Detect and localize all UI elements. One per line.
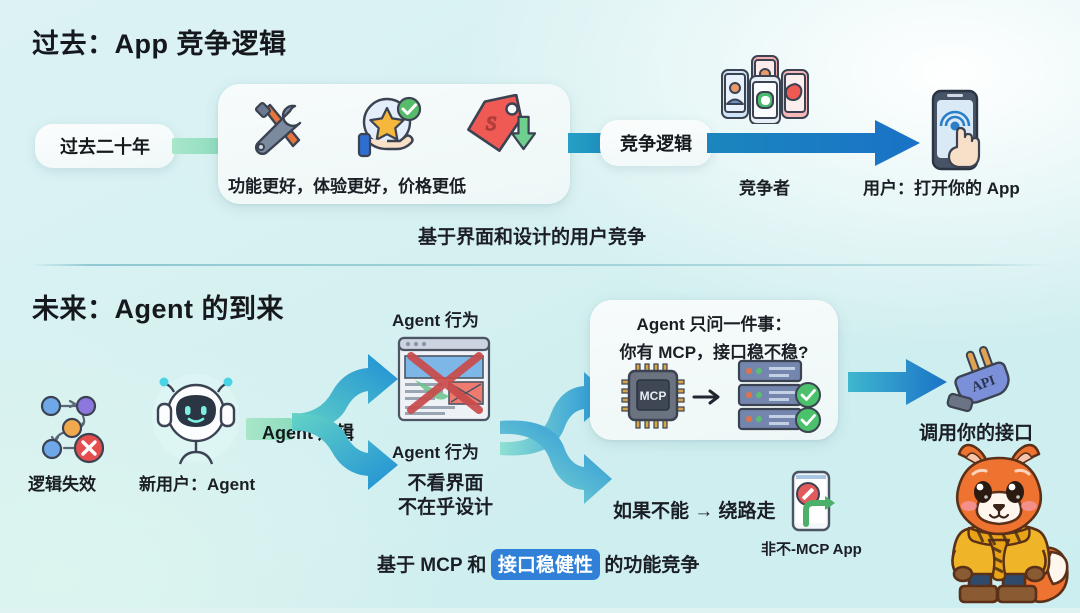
top-section-title: 过去：App 竞争逻辑	[32, 22, 287, 61]
era-pill-label: 过去二十年	[60, 133, 150, 159]
broken-flowchart-icon	[34, 392, 114, 466]
status-check-icon	[796, 383, 820, 432]
new-user-agent-label: 新用户：Agent	[139, 470, 255, 495]
tools-icon	[243, 96, 315, 160]
connector-era-to-card	[172, 138, 222, 154]
competition-logic-pill: 竞争逻辑	[600, 120, 712, 166]
robot-icon	[150, 370, 242, 466]
user-open-app-label: 用户：打开你的 App	[863, 174, 1020, 199]
section-divider	[30, 264, 1055, 266]
fox-mascot-icon	[925, 440, 1077, 608]
agent-branch-arrows	[292, 330, 412, 530]
competitors-label: 竞争者	[739, 174, 790, 199]
phone-tap-icon	[920, 88, 992, 174]
server-rack-icon	[735, 358, 827, 436]
cpu-chip-icon: MCP	[620, 362, 686, 430]
mcp-card-line1: Agent 只问一件事：	[590, 310, 838, 335]
svg-text:S: S	[486, 113, 496, 135]
bottom-section-title: 未来：Agent 的到来	[32, 287, 284, 326]
footer-highlight: 接口稳健性	[491, 549, 600, 580]
arrow-right-icon	[692, 386, 726, 408]
footer-before: 基于 MCP 和	[377, 555, 486, 576]
value-card-caption: 功能更好，体验更好，价格更低	[228, 172, 466, 197]
competition-logic-label: 竞争逻辑	[620, 130, 692, 156]
outcome-arrow	[848, 358, 948, 406]
hand-star-icon	[353, 94, 425, 160]
price-tag-down-icon: S	[460, 94, 540, 160]
era-pill: 过去二十年	[35, 124, 175, 168]
bottom-footer-caption: 基于 MCP 和 接口稳健性 的功能竞争	[377, 549, 699, 580]
crossed-out-webpage-icon	[397, 336, 491, 422]
fallback-text: 如果不能 → 绕路走	[613, 496, 776, 523]
competition-flow-arrow	[707, 118, 922, 168]
branch-lower-line1: 不看界面	[408, 472, 484, 496]
multiple-phones-icon	[716, 52, 814, 124]
fallback-caption: 非不-MCP App	[761, 538, 862, 559]
phone-detour-icon	[783, 470, 847, 534]
api-plug-icon: API	[938, 345, 1016, 417]
branch-lower-line2: 不在乎设计	[398, 496, 493, 520]
branch-lower-heading: Agent 行为	[392, 438, 479, 463]
infographic-canvas: 过去：App 竞争逻辑 过去二十年	[0, 0, 1080, 608]
footer-after: 的功能竞争	[604, 555, 699, 576]
branch-upper-heading: Agent 行为	[392, 306, 479, 331]
broken-logic-label: 逻辑失效	[28, 470, 96, 495]
svg-text:MCP: MCP	[640, 389, 667, 403]
top-footer-caption: 基于界面和设计的用户竞争	[418, 222, 646, 249]
